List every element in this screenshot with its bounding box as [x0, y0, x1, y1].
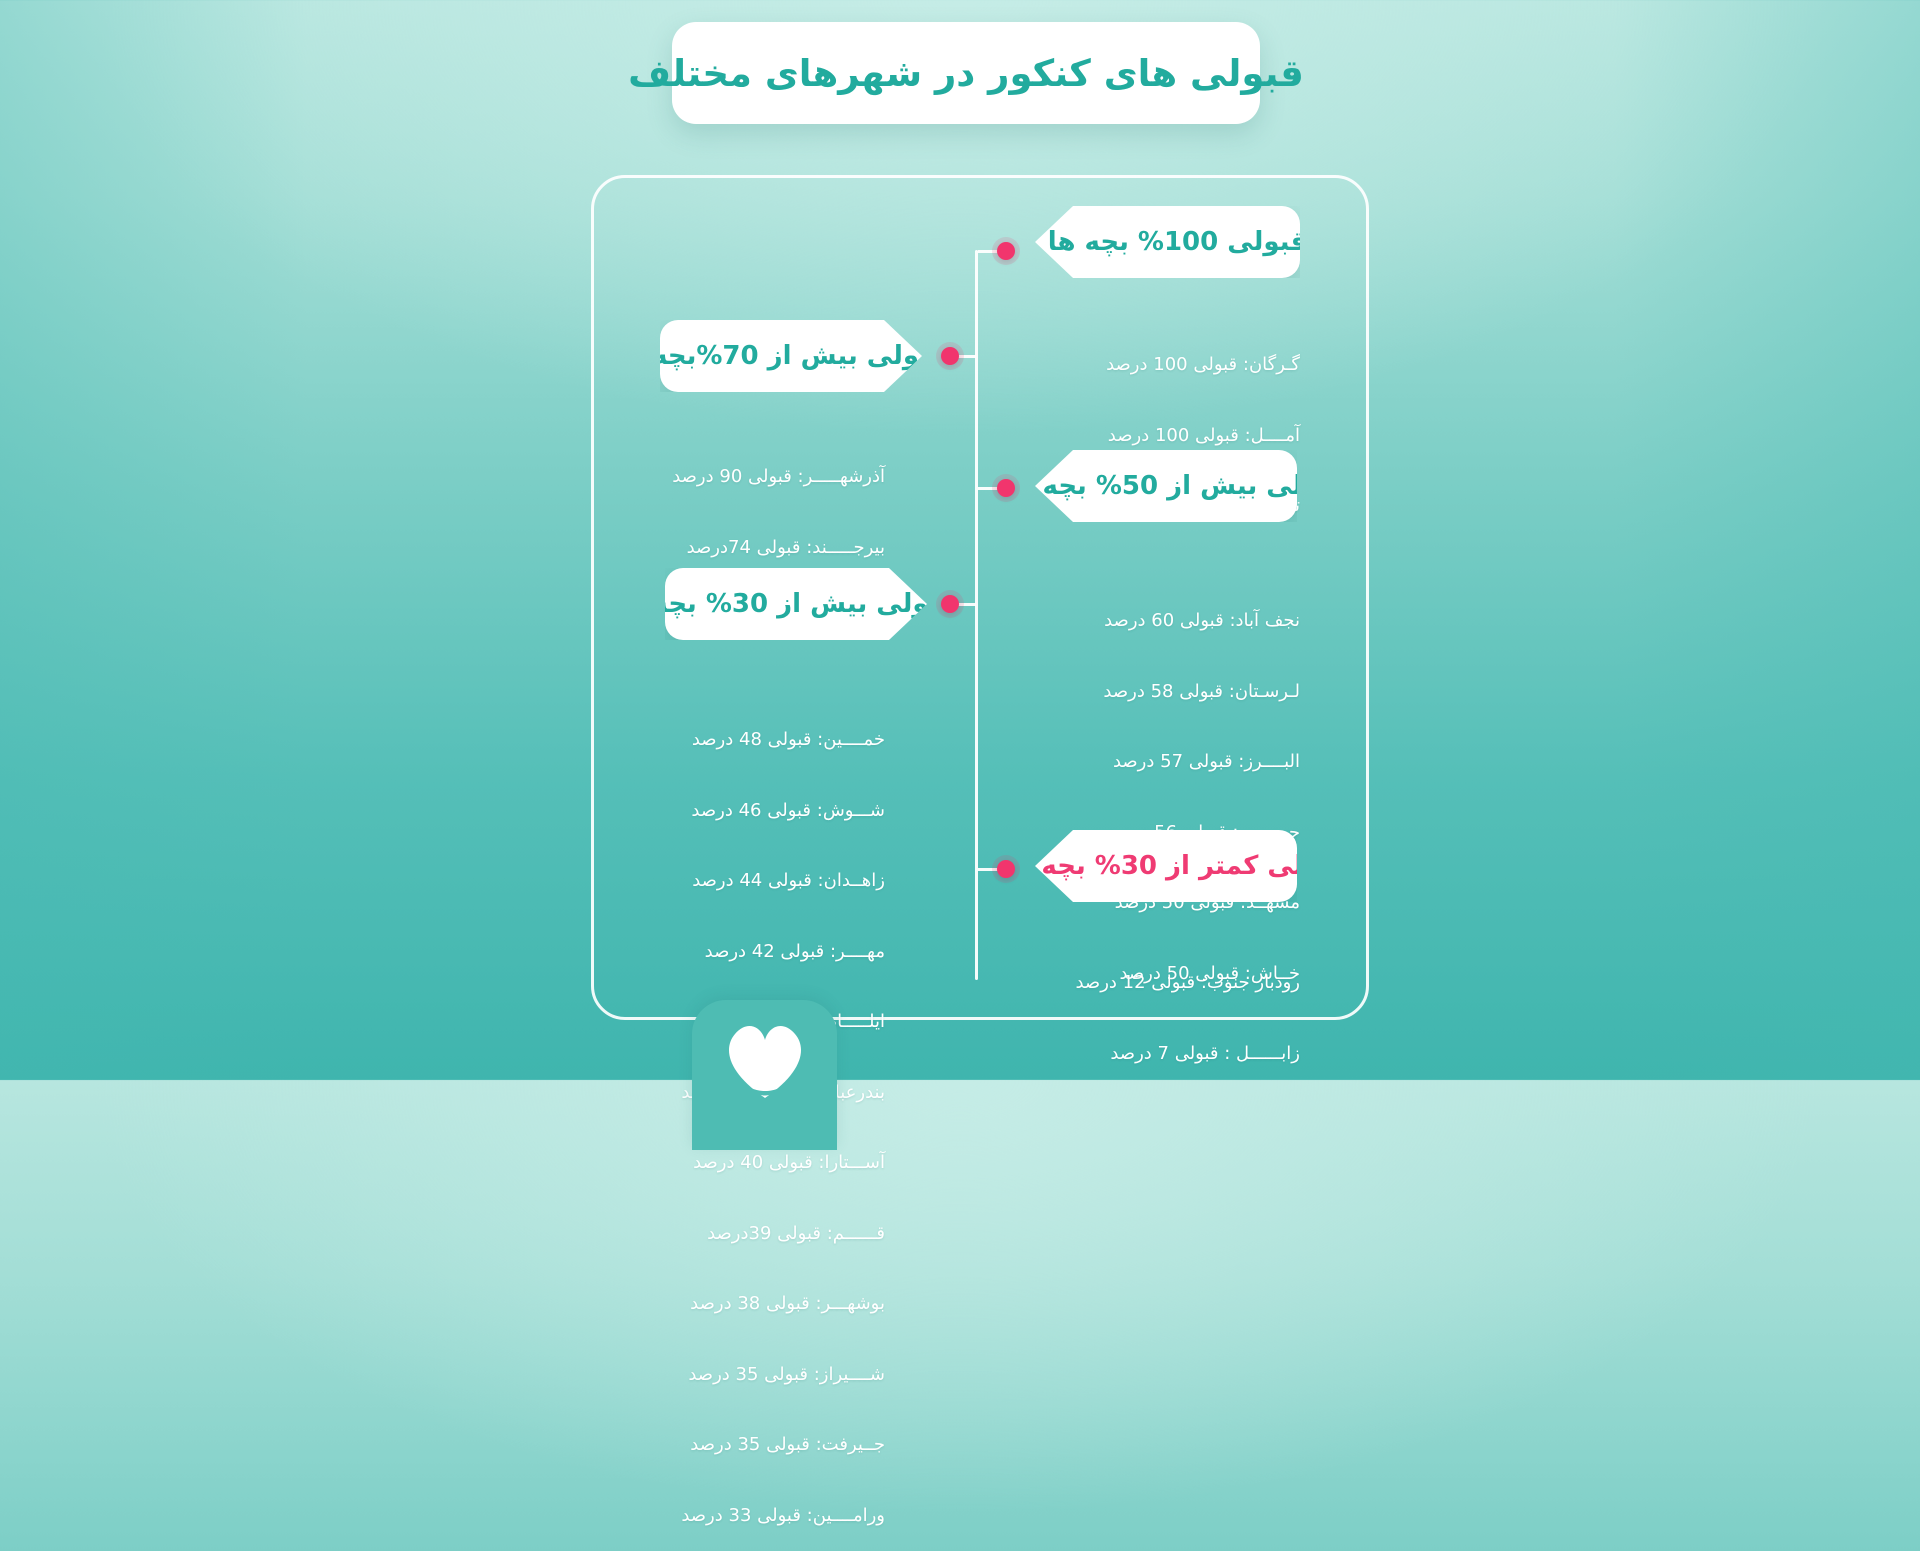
list-item: زابــــــل : قبولی 7 درصد	[1040, 1042, 1300, 1066]
city-list-under30: رودبار جنوب: قبولی 12 درصد زابــــــل : …	[1040, 924, 1300, 1089]
list-item: البــــرز: قبولی 57 درصد	[1040, 750, 1300, 774]
ribbon-over30[interactable]: قبولی بیش از 30% بچه ها	[665, 568, 927, 640]
list-item: بوشهـــر: قبولی 38 درصد	[640, 1292, 885, 1316]
timeline-dot-under30	[997, 860, 1015, 878]
list-item: شـــوش: قبولی 46 درصد	[640, 799, 885, 823]
city-list-over70: آذرشهـــــر: قبولی 90 درصد بیرجـــــند: …	[640, 418, 885, 583]
list-item: بیرجـــــند: قبولی 74درصد	[640, 536, 885, 560]
ribbon-over70[interactable]: قبولی بیش از 70%بچه ها	[660, 320, 922, 392]
list-item: آذرشهـــــر: قبولی 90 درصد	[640, 465, 885, 489]
list-item: خمــــین: قبولی 48 درصد	[640, 728, 885, 752]
ribbon-label-full: قبولی 100% بچه ها	[1048, 227, 1308, 257]
ribbon-over50[interactable]: قبولی بیش از 50% بچه ها	[1035, 450, 1297, 522]
brand-logo[interactable]	[692, 1000, 837, 1150]
list-item: زاهــدان: قبولی 44 درصد	[640, 869, 885, 893]
list-item: نجف آباد: قبولی 60 درصد	[1040, 609, 1300, 633]
list-item: آمــــل: قبولی 100 درصد	[1040, 424, 1300, 448]
timeline-dot-over70	[941, 347, 959, 365]
timeline-dot-full	[997, 242, 1015, 260]
ribbon-label-over50: قبولی بیش از 50% بچه ها	[1006, 471, 1347, 501]
list-item: شــــیراز: قبولی 35 درصد	[640, 1363, 885, 1387]
ribbon-label-over30: قبولی بیش از 30% بچه ها	[616, 589, 957, 619]
page-title: قبولی های کنکور در شهرهای مختلف	[628, 52, 1304, 95]
title-card: قبولی های کنکور در شهرهای مختلف	[672, 22, 1260, 124]
timeline-dot-over30	[941, 595, 959, 613]
list-item: قــــــم: قبولی 39درصد	[640, 1222, 885, 1246]
ribbon-full[interactable]: قبولی 100% بچه ها	[1035, 206, 1300, 278]
list-item: آســـتارا: قبولی 40 درصد	[640, 1151, 885, 1175]
list-item: مهــــر: قبولی 42 درصد	[640, 940, 885, 964]
heart-icon	[721, 1022, 809, 1100]
ribbon-label-under30: قبولی کمتر از 30% بچه ها	[1005, 851, 1348, 881]
list-item: لـرسـتان: قبولی 58 درصد	[1040, 680, 1300, 704]
list-item: رودبار جنوب: قبولی 12 درصد	[1040, 971, 1300, 995]
ribbon-label-over70: قبولی بیش از 70%بچه ها	[615, 341, 947, 371]
ribbon-under30[interactable]: قبولی کمتر از 30% بچه ها	[1035, 830, 1297, 902]
timeline-dot-over50	[997, 479, 1015, 497]
list-item: جــیرفت: قبولی 35 درصد	[640, 1433, 885, 1457]
list-item: گـرگان: قبولی 100 درصد	[1040, 353, 1300, 377]
list-item: ورامــــین: قبولی 33 درصد	[640, 1504, 885, 1528]
